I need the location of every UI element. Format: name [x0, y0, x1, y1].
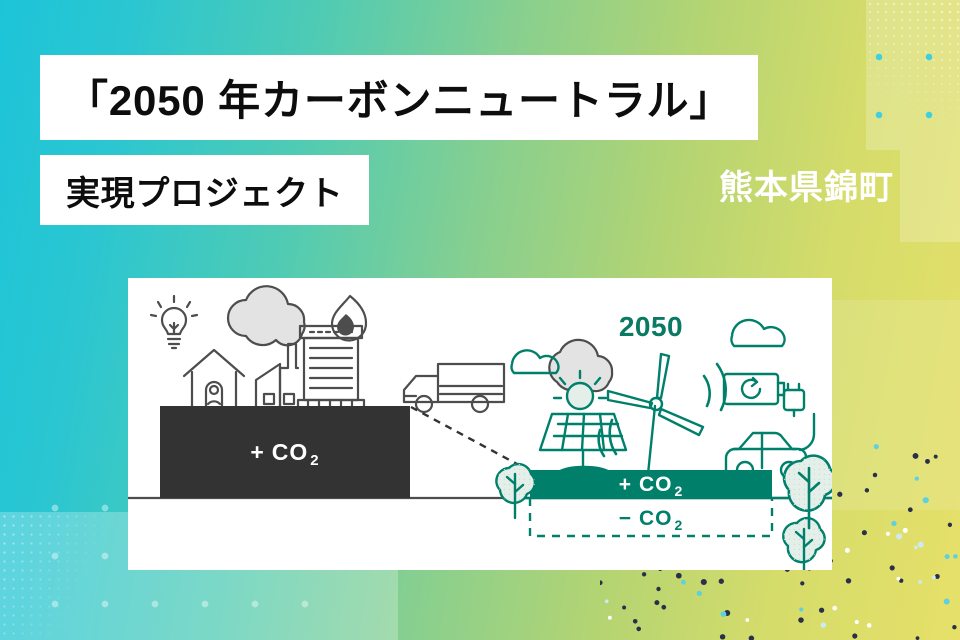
tree-icon — [784, 456, 832, 528]
present-co2-sign: + — [250, 439, 264, 465]
offset-co2-sub: 2 — [674, 517, 683, 533]
factory-icon — [256, 344, 298, 410]
cloud-icon — [731, 320, 784, 346]
battery-recycle-icon — [724, 374, 784, 404]
future-co2-text: CO — [639, 473, 673, 496]
lightbulb-icon — [151, 296, 197, 348]
office-building-icon — [298, 326, 364, 410]
solar-panel-icon — [540, 414, 626, 474]
future-co2-sign: + — [619, 473, 632, 496]
wind-turbine-icon — [599, 354, 726, 474]
halftone-texture-bottom-left — [0, 512, 120, 640]
tree-icon — [496, 464, 534, 518]
tree-icon — [783, 518, 824, 570]
offset-co2-sign: − — [619, 507, 632, 530]
future-scene — [512, 320, 814, 478]
future-co2-sub: 2 — [674, 483, 683, 499]
carbon-neutral-diagram: +CO2 — [128, 278, 832, 570]
present-co2-sub: 2 — [310, 452, 319, 469]
present-scene — [151, 286, 612, 412]
house-icon — [184, 350, 244, 410]
illustration-panel: +CO2 — [128, 278, 832, 570]
offset-co2-text: CO — [639, 507, 673, 530]
offset-co2-label: −CO2 — [619, 507, 684, 533]
smoke-cloud-icon — [228, 286, 305, 345]
year-label: 2050 — [619, 311, 683, 342]
region-label: 熊本県錦町 — [719, 160, 894, 209]
truck-icon — [404, 364, 504, 412]
present-co2-text: CO — [272, 439, 309, 465]
perspective-line — [411, 407, 530, 471]
poster-canvas: 「2050 年カーボンニュートラル」 実現プロジェクト 熊本県錦町 — [0, 0, 960, 640]
dot-grid-top-right — [848, 22, 960, 158]
page-title: 「2050 年カーボンニュートラル」 — [40, 55, 758, 140]
page-subtitle: 実現プロジェクト — [40, 155, 369, 225]
decorative-wash-top-right-lower — [900, 150, 960, 242]
